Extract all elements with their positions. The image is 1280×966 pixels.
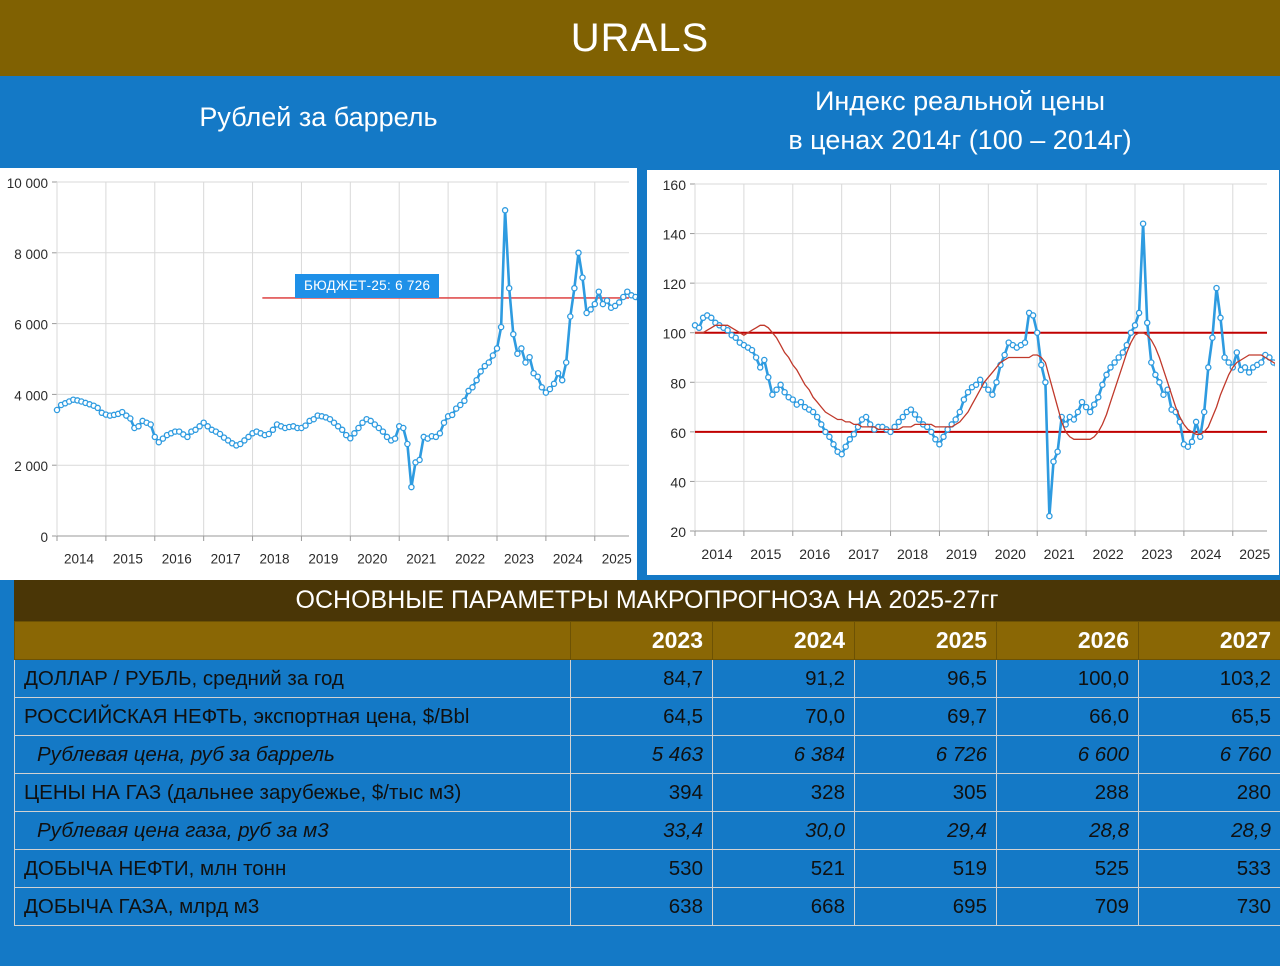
table-cell-value: 84,7 — [571, 660, 713, 698]
table-cell-value: 305 — [855, 774, 997, 812]
table-row-label: РОССИЙСКАЯ НЕФТЬ, экспортная цена, $/Bbl — [15, 698, 571, 736]
table-cell-value: 730 — [1139, 888, 1280, 926]
right-chart-caption-line2: в ценах 2014г (100 – 2014г) — [640, 121, 1280, 160]
slide-root: URALS Рублей за баррель Индекс реальной … — [0, 0, 1280, 966]
table-row-label: ЦЕНЫ НА ГАЗ (дальнее зарубежье, $/тыс м3… — [15, 774, 571, 812]
table-header-year-2025: 2025 — [855, 622, 997, 660]
svg-text:2 000: 2 000 — [14, 459, 48, 474]
svg-text:2018: 2018 — [260, 552, 290, 567]
svg-text:2024: 2024 — [1190, 546, 1221, 562]
table-row-label: ДОЛЛАР / РУБЛЬ, средний за год — [15, 660, 571, 698]
svg-text:40: 40 — [670, 474, 686, 490]
table-cell-value: 28,8 — [997, 812, 1139, 850]
svg-text:2014: 2014 — [701, 546, 732, 562]
table-cell-value: 29,4 — [855, 812, 997, 850]
table-cell-value: 288 — [997, 774, 1139, 812]
table-cell-value: 394 — [571, 774, 713, 812]
svg-text:140: 140 — [663, 227, 687, 243]
left-chart-caption: Рублей за баррель — [0, 103, 637, 133]
svg-text:120: 120 — [663, 276, 687, 292]
left-chart-svg: 02 0004 0006 0008 00010 0002014201520162… — [0, 168, 637, 580]
table-cell-value: 638 — [571, 888, 713, 926]
svg-text:2017: 2017 — [848, 546, 879, 562]
macro-table-body: ДОЛЛАР / РУБЛЬ, средний за год84,791,296… — [15, 660, 1280, 926]
table-cell-value: 521 — [713, 850, 855, 888]
table-row: Рублевая цена, руб за баррель5 4636 3846… — [15, 736, 1280, 774]
svg-text:2019: 2019 — [946, 546, 977, 562]
table-row: ДОБЫЧА ГАЗА, млрд м3638668695709730 — [15, 888, 1280, 926]
svg-text:2015: 2015 — [113, 552, 143, 567]
table-cell-value: 96,5 — [855, 660, 997, 698]
table-cell-value: 33,4 — [571, 812, 713, 850]
table-cell-value: 70,0 — [713, 698, 855, 736]
svg-text:2015: 2015 — [750, 546, 781, 562]
table-header-year-2027: 2027 — [1139, 622, 1280, 660]
svg-text:6 000: 6 000 — [14, 318, 48, 333]
budget-callout: БЮДЖЕТ-25: 6 726 — [295, 274, 439, 298]
table-cell-value: 6 384 — [713, 736, 855, 774]
table-cell-value: 668 — [713, 888, 855, 926]
svg-text:2025: 2025 — [1239, 546, 1270, 562]
svg-text:2024: 2024 — [553, 552, 584, 567]
table-cell-value: 69,7 — [855, 698, 997, 736]
chart-caption-band: Рублей за баррель Индекс реальной цены в… — [0, 76, 1280, 171]
svg-text:2021: 2021 — [1044, 546, 1075, 562]
svg-text:4 000: 4 000 — [14, 388, 48, 403]
svg-text:80: 80 — [670, 375, 686, 391]
table-cell-value: 66,0 — [997, 698, 1139, 736]
page-title: URALS — [571, 18, 709, 58]
svg-text:2022: 2022 — [1093, 546, 1124, 562]
svg-text:8 000: 8 000 — [14, 247, 48, 262]
table-cell-value: 64,5 — [571, 698, 713, 736]
svg-text:0: 0 — [40, 530, 48, 545]
macro-table-head: 20232024202520262027 — [15, 622, 1280, 660]
svg-text:2016: 2016 — [799, 546, 830, 562]
table-cell-value: 519 — [855, 850, 997, 888]
svg-text:160: 160 — [663, 177, 687, 193]
svg-text:10 000: 10 000 — [7, 176, 48, 191]
slide-title-bar: URALS — [0, 0, 1280, 76]
right-chart-caption-line1: Индекс реальной цены — [640, 82, 1280, 121]
svg-text:2023: 2023 — [504, 552, 534, 567]
svg-text:2017: 2017 — [211, 552, 241, 567]
svg-text:100: 100 — [663, 326, 687, 342]
svg-text:2020: 2020 — [995, 546, 1026, 562]
table-cell-value: 100,0 — [997, 660, 1139, 698]
svg-text:60: 60 — [670, 425, 686, 441]
table-row: Рублевая цена газа, руб за м333,430,029,… — [15, 812, 1280, 850]
table-header-year-2026: 2026 — [997, 622, 1139, 660]
table-header-year-2023: 2023 — [571, 622, 713, 660]
table-header-year-2024: 2024 — [713, 622, 855, 660]
table-cell-value: 709 — [997, 888, 1139, 926]
macro-table-region: ОСНОВНЫЕ ПАРАМЕТРЫ МАКРОПРОГНОЗА НА 2025… — [0, 580, 1280, 966]
table-header-row: 20232024202520262027 — [15, 622, 1280, 660]
table-cell-value: 530 — [571, 850, 713, 888]
table-row: ЦЕНЫ НА ГАЗ (дальнее зарубежье, $/тыс м3… — [15, 774, 1280, 812]
table-cell-value: 28,9 — [1139, 812, 1280, 850]
right-chart-svg: 2040608010012014016020142015201620172018… — [647, 170, 1275, 571]
table-cell-value: 5 463 — [571, 736, 713, 774]
svg-text:2016: 2016 — [162, 552, 192, 567]
table-cell-value: 695 — [855, 888, 997, 926]
svg-text:2020: 2020 — [357, 552, 387, 567]
table-cell-value: 525 — [997, 850, 1139, 888]
table-cell-value: 30,0 — [713, 812, 855, 850]
right-chart-caption: Индекс реальной цены в ценах 2014г (100 … — [640, 82, 1280, 160]
table-cell-value: 533 — [1139, 850, 1280, 888]
table-row-label: ДОБЫЧА ГАЗА, млрд м3 — [15, 888, 571, 926]
table-header-corner — [15, 622, 571, 660]
table-cell-value: 91,2 — [713, 660, 855, 698]
svg-text:2021: 2021 — [406, 552, 436, 567]
table-cell-value: 328 — [713, 774, 855, 812]
svg-text:2023: 2023 — [1141, 546, 1172, 562]
table-row-label: Рублевая цена, руб за баррель — [15, 736, 571, 774]
table-row: ДОБЫЧА НЕФТИ, млн тонн530521519525533 — [15, 850, 1280, 888]
table-cell-value: 6 760 — [1139, 736, 1280, 774]
table-row-label: ДОБЫЧА НЕФТИ, млн тонн — [15, 850, 571, 888]
table-cell-value: 6 726 — [855, 736, 997, 774]
svg-text:2019: 2019 — [308, 552, 338, 567]
table-row-label: Рублевая цена газа, руб за м3 — [15, 812, 571, 850]
svg-text:2025: 2025 — [602, 552, 632, 567]
macro-forecast-table: 20232024202520262027 ДОЛЛАР / РУБЛЬ, сре… — [14, 621, 1280, 926]
charts-region: 02 0004 0006 0008 00010 0002014201520162… — [0, 168, 1280, 580]
svg-text:2022: 2022 — [455, 552, 485, 567]
table-row: РОССИЙСКАЯ НЕФТЬ, экспортная цена, $/Bbl… — [15, 698, 1280, 736]
table-row: ДОЛЛАР / РУБЛЬ, средний за год84,791,296… — [15, 660, 1280, 698]
table-cell-value: 65,5 — [1139, 698, 1280, 736]
svg-text:2014: 2014 — [64, 552, 95, 567]
svg-text:2018: 2018 — [897, 546, 928, 562]
chart-rub-per-barrel: 02 0004 0006 0008 00010 0002014201520162… — [0, 168, 639, 580]
table-cell-value: 103,2 — [1139, 660, 1280, 698]
table-cell-value: 280 — [1139, 774, 1280, 812]
svg-text:20: 20 — [670, 524, 686, 540]
macro-table-title: ОСНОВНЫЕ ПАРАМЕТРЫ МАКРОПРОГНОЗА НА 2025… — [14, 580, 1280, 621]
chart-real-price-index: 2040608010012014016020142015201620172018… — [645, 168, 1280, 577]
table-cell-value: 6 600 — [997, 736, 1139, 774]
